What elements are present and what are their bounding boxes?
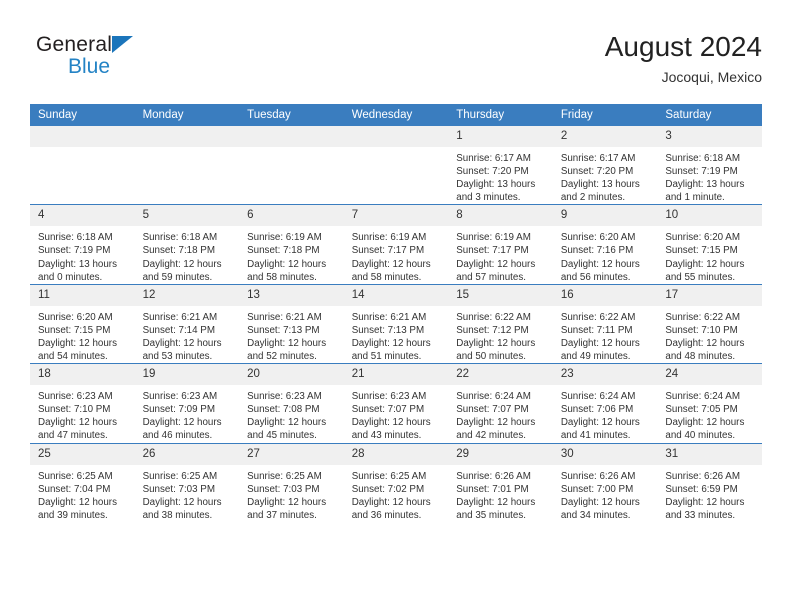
sunset-text: Sunset: 7:15 PM [38, 324, 129, 337]
day-number: 5 [135, 205, 240, 226]
day-number: 6 [239, 205, 344, 226]
day-details: Sunrise: 6:20 AMSunset: 7:15 PMDaylight:… [30, 306, 135, 363]
day-details: Sunrise: 6:25 AMSunset: 7:04 PMDaylight:… [30, 465, 135, 522]
sunset-text: Sunset: 7:08 PM [247, 403, 338, 416]
day-number: 24 [657, 364, 762, 385]
daylight-text: Daylight: 13 hours [665, 178, 756, 191]
daylight-text: Daylight: 13 hours [456, 178, 547, 191]
daylight-text: and 35 minutes. [456, 509, 547, 522]
day-details: Sunrise: 6:19 AMSunset: 7:17 PMDaylight:… [448, 226, 553, 283]
calendar-day-cell[interactable]: 6Sunrise: 6:19 AMSunset: 7:18 PMDaylight… [239, 205, 344, 284]
calendar-day-cell[interactable]: 26Sunrise: 6:25 AMSunset: 7:03 PMDayligh… [135, 443, 240, 522]
day-details: Sunrise: 6:23 AMSunset: 7:10 PMDaylight:… [30, 385, 135, 442]
daylight-text: Daylight: 12 hours [665, 258, 756, 271]
day-details: Sunrise: 6:21 AMSunset: 7:14 PMDaylight:… [135, 306, 240, 363]
calendar-day-cell[interactable]: 9Sunrise: 6:20 AMSunset: 7:16 PMDaylight… [553, 205, 658, 284]
sunrise-text: Sunrise: 6:22 AM [665, 311, 756, 324]
calendar-day-cell[interactable]: 23Sunrise: 6:24 AMSunset: 7:06 PMDayligh… [553, 364, 658, 443]
sunset-text: Sunset: 7:20 PM [456, 165, 547, 178]
logo-text-blue: Blue [36, 56, 216, 78]
daylight-text: and 0 minutes. [38, 271, 129, 284]
daylight-text: and 38 minutes. [143, 509, 234, 522]
sunset-text: Sunset: 7:00 PM [561, 483, 652, 496]
page-title: August 2024 [605, 30, 762, 64]
daylight-text: and 51 minutes. [352, 350, 443, 363]
logo-row-top: General [36, 34, 216, 57]
day-number: 29 [448, 444, 553, 465]
day-details: Sunrise: 6:24 AMSunset: 7:05 PMDaylight:… [657, 385, 762, 442]
daylight-text: Daylight: 12 hours [456, 337, 547, 350]
sunset-text: Sunset: 7:01 PM [456, 483, 547, 496]
calendar-cell-empty [239, 126, 344, 205]
sunset-text: Sunset: 7:05 PM [665, 403, 756, 416]
day-details: Sunrise: 6:21 AMSunset: 7:13 PMDaylight:… [344, 306, 449, 363]
sunrise-text: Sunrise: 6:23 AM [352, 390, 443, 403]
sunrise-text: Sunrise: 6:18 AM [665, 152, 756, 165]
daylight-text: Daylight: 12 hours [665, 416, 756, 429]
daylight-text: and 56 minutes. [561, 271, 652, 284]
daylight-text: Daylight: 12 hours [143, 337, 234, 350]
sunrise-text: Sunrise: 6:19 AM [352, 231, 443, 244]
calendar-day-cell[interactable]: 2Sunrise: 6:17 AMSunset: 7:20 PMDaylight… [553, 126, 658, 205]
day-details: Sunrise: 6:24 AMSunset: 7:06 PMDaylight:… [553, 385, 658, 442]
day-details: Sunrise: 6:19 AMSunset: 7:17 PMDaylight:… [344, 226, 449, 283]
calendar-day-cell[interactable]: 5Sunrise: 6:18 AMSunset: 7:18 PMDaylight… [135, 205, 240, 284]
sunset-text: Sunset: 7:03 PM [143, 483, 234, 496]
calendar-day-cell[interactable]: 11Sunrise: 6:20 AMSunset: 7:15 PMDayligh… [30, 284, 135, 363]
calendar-day-cell[interactable]: 8Sunrise: 6:19 AMSunset: 7:17 PMDaylight… [448, 205, 553, 284]
daylight-text: and 48 minutes. [665, 350, 756, 363]
day-details: Sunrise: 6:23 AMSunset: 7:07 PMDaylight:… [344, 385, 449, 442]
day-number: 9 [553, 205, 658, 226]
general-blue-logo[interactable]: General Blue [36, 34, 216, 90]
daylight-text: and 34 minutes. [561, 509, 652, 522]
daylight-text: and 58 minutes. [247, 271, 338, 284]
calendar-week-row: 1Sunrise: 6:17 AMSunset: 7:20 PMDaylight… [30, 126, 762, 205]
daylight-text: and 52 minutes. [247, 350, 338, 363]
day-number: 14 [344, 285, 449, 306]
sunset-text: Sunset: 7:10 PM [665, 324, 756, 337]
sunset-text: Sunset: 7:10 PM [38, 403, 129, 416]
page-subtitle: Jocoqui, Mexico [605, 67, 762, 87]
day-number [135, 126, 240, 147]
day-number: 1 [448, 126, 553, 147]
sunrise-text: Sunrise: 6:26 AM [561, 470, 652, 483]
daylight-text: and 47 minutes. [38, 429, 129, 442]
day-number: 3 [657, 126, 762, 147]
logo-text-general: General [36, 34, 112, 56]
calendar-day-cell[interactable]: 31Sunrise: 6:26 AMSunset: 6:59 PMDayligh… [657, 443, 762, 522]
sunrise-text: Sunrise: 6:19 AM [247, 231, 338, 244]
day-details: Sunrise: 6:25 AMSunset: 7:03 PMDaylight:… [135, 465, 240, 522]
day-details: Sunrise: 6:23 AMSunset: 7:08 PMDaylight:… [239, 385, 344, 442]
day-number: 28 [344, 444, 449, 465]
daylight-text: and 37 minutes. [247, 509, 338, 522]
day-details: Sunrise: 6:26 AMSunset: 7:00 PMDaylight:… [553, 465, 658, 522]
triangle-icon [112, 36, 133, 53]
sunset-text: Sunset: 7:15 PM [665, 244, 756, 257]
sunset-text: Sunset: 7:04 PM [38, 483, 129, 496]
day-number [344, 126, 449, 147]
sunrise-text: Sunrise: 6:25 AM [247, 470, 338, 483]
calendar-day-cell[interactable]: 18Sunrise: 6:23 AMSunset: 7:10 PMDayligh… [30, 364, 135, 443]
sunset-text: Sunset: 7:18 PM [143, 244, 234, 257]
daylight-text: Daylight: 12 hours [38, 416, 129, 429]
daylight-text: Daylight: 12 hours [247, 258, 338, 271]
calendar-day-cell[interactable]: 3Sunrise: 6:18 AMSunset: 7:19 PMDaylight… [657, 126, 762, 205]
daylight-text: and 59 minutes. [143, 271, 234, 284]
day-details: Sunrise: 6:17 AMSunset: 7:20 PMDaylight:… [553, 147, 658, 204]
sunrise-text: Sunrise: 6:21 AM [352, 311, 443, 324]
weekday-header-wednesday: Wednesday [344, 104, 449, 126]
day-details: Sunrise: 6:25 AMSunset: 7:02 PMDaylight:… [344, 465, 449, 522]
daylight-text: Daylight: 12 hours [665, 337, 756, 350]
sunset-text: Sunset: 7:07 PM [456, 403, 547, 416]
daylight-text: and 33 minutes. [665, 509, 756, 522]
sunrise-text: Sunrise: 6:21 AM [143, 311, 234, 324]
daylight-text: Daylight: 12 hours [561, 337, 652, 350]
day-details: Sunrise: 6:18 AMSunset: 7:19 PMDaylight:… [30, 226, 135, 283]
day-number: 26 [135, 444, 240, 465]
day-details: Sunrise: 6:25 AMSunset: 7:03 PMDaylight:… [239, 465, 344, 522]
day-number: 17 [657, 285, 762, 306]
daylight-text: Daylight: 12 hours [456, 416, 547, 429]
calendar-day-cell[interactable]: 10Sunrise: 6:20 AMSunset: 7:15 PMDayligh… [657, 205, 762, 284]
sunset-text: Sunset: 7:07 PM [352, 403, 443, 416]
calendar-day-cell[interactable]: 25Sunrise: 6:25 AMSunset: 7:04 PMDayligh… [30, 443, 135, 522]
calendar-week-row: 11Sunrise: 6:20 AMSunset: 7:15 PMDayligh… [30, 284, 762, 363]
calendar-day-cell[interactable]: 22Sunrise: 6:24 AMSunset: 7:07 PMDayligh… [448, 364, 553, 443]
day-number: 10 [657, 205, 762, 226]
sunset-text: Sunset: 7:02 PM [352, 483, 443, 496]
calendar-day-cell[interactable]: 1Sunrise: 6:17 AMSunset: 7:20 PMDaylight… [448, 126, 553, 205]
sunrise-text: Sunrise: 6:24 AM [561, 390, 652, 403]
calendar-cell-empty [135, 126, 240, 205]
day-number: 15 [448, 285, 553, 306]
daylight-text: Daylight: 12 hours [456, 496, 547, 509]
day-details: Sunrise: 6:22 AMSunset: 7:11 PMDaylight:… [553, 306, 658, 363]
sunset-text: Sunset: 7:13 PM [247, 324, 338, 337]
daylight-text: and 43 minutes. [352, 429, 443, 442]
day-details: Sunrise: 6:21 AMSunset: 7:13 PMDaylight:… [239, 306, 344, 363]
daylight-text: and 57 minutes. [456, 271, 547, 284]
day-number: 18 [30, 364, 135, 385]
calendar-week-row: 25Sunrise: 6:25 AMSunset: 7:04 PMDayligh… [30, 443, 762, 522]
daylight-text: and 53 minutes. [143, 350, 234, 363]
sunrise-text: Sunrise: 6:17 AM [561, 152, 652, 165]
day-details: Sunrise: 6:19 AMSunset: 7:18 PMDaylight:… [239, 226, 344, 283]
day-number: 19 [135, 364, 240, 385]
calendar-week-row: 4Sunrise: 6:18 AMSunset: 7:19 PMDaylight… [30, 205, 762, 284]
daylight-text: Daylight: 12 hours [143, 496, 234, 509]
weekday-header-tuesday: Tuesday [239, 104, 344, 126]
day-details: Sunrise: 6:18 AMSunset: 7:19 PMDaylight:… [657, 147, 762, 204]
calendar-header-row: Sunday Monday Tuesday Wednesday Thursday… [30, 104, 762, 126]
weekday-header-monday: Monday [135, 104, 240, 126]
sunset-text: Sunset: 7:14 PM [143, 324, 234, 337]
title-block: August 2024 Jocoqui, Mexico [605, 30, 762, 87]
daylight-text: Daylight: 12 hours [456, 258, 547, 271]
sunset-text: Sunset: 7:03 PM [247, 483, 338, 496]
daylight-text: Daylight: 12 hours [247, 337, 338, 350]
sunrise-text: Sunrise: 6:26 AM [456, 470, 547, 483]
day-number: 8 [448, 205, 553, 226]
daylight-text: Daylight: 13 hours [561, 178, 652, 191]
calendar-day-cell[interactable]: 28Sunrise: 6:25 AMSunset: 7:02 PMDayligh… [344, 443, 449, 522]
daylight-text: Daylight: 12 hours [352, 496, 443, 509]
calendar-day-cell[interactable]: 30Sunrise: 6:26 AMSunset: 7:00 PMDayligh… [553, 443, 658, 522]
calendar-day-cell[interactable]: 21Sunrise: 6:23 AMSunset: 7:07 PMDayligh… [344, 364, 449, 443]
sunrise-text: Sunrise: 6:25 AM [352, 470, 443, 483]
daylight-text: Daylight: 12 hours [352, 416, 443, 429]
sunset-text: Sunset: 7:19 PM [665, 165, 756, 178]
day-details: Sunrise: 6:22 AMSunset: 7:10 PMDaylight:… [657, 306, 762, 363]
day-number: 20 [239, 364, 344, 385]
daylight-text: and 1 minute. [665, 191, 756, 204]
sunrise-text: Sunrise: 6:22 AM [561, 311, 652, 324]
day-details: Sunrise: 6:20 AMSunset: 7:15 PMDaylight:… [657, 226, 762, 283]
sunset-text: Sunset: 7:20 PM [561, 165, 652, 178]
daylight-text: Daylight: 12 hours [247, 416, 338, 429]
daylight-text: and 49 minutes. [561, 350, 652, 363]
sunset-text: Sunset: 7:18 PM [247, 244, 338, 257]
sunrise-text: Sunrise: 6:24 AM [665, 390, 756, 403]
sunrise-text: Sunrise: 6:23 AM [247, 390, 338, 403]
day-number: 22 [448, 364, 553, 385]
sunset-text: Sunset: 7:19 PM [38, 244, 129, 257]
calendar-day-cell[interactable]: 4Sunrise: 6:18 AMSunset: 7:19 PMDaylight… [30, 205, 135, 284]
calendar-day-cell[interactable]: 27Sunrise: 6:25 AMSunset: 7:03 PMDayligh… [239, 443, 344, 522]
day-number: 30 [553, 444, 658, 465]
calendar-page: General Blue August 2024 Jocoqui, Mexico… [0, 0, 792, 612]
day-number: 7 [344, 205, 449, 226]
daylight-text: Daylight: 12 hours [247, 496, 338, 509]
day-number: 23 [553, 364, 658, 385]
daylight-text: Daylight: 12 hours [143, 416, 234, 429]
day-number: 21 [344, 364, 449, 385]
day-number: 25 [30, 444, 135, 465]
sunset-text: Sunset: 7:11 PM [561, 324, 652, 337]
day-details: Sunrise: 6:18 AMSunset: 7:18 PMDaylight:… [135, 226, 240, 283]
day-number: 31 [657, 444, 762, 465]
day-number [30, 126, 135, 147]
day-details: Sunrise: 6:26 AMSunset: 7:01 PMDaylight:… [448, 465, 553, 522]
daylight-text: Daylight: 12 hours [561, 258, 652, 271]
daylight-text: Daylight: 12 hours [561, 496, 652, 509]
sunrise-text: Sunrise: 6:19 AM [456, 231, 547, 244]
daylight-text: Daylight: 12 hours [352, 258, 443, 271]
daylight-text: and 42 minutes. [456, 429, 547, 442]
sunset-text: Sunset: 7:17 PM [352, 244, 443, 257]
daylight-text: Daylight: 12 hours [38, 496, 129, 509]
sunrise-text: Sunrise: 6:20 AM [561, 231, 652, 244]
daylight-text: and 55 minutes. [665, 271, 756, 284]
sunrise-text: Sunrise: 6:23 AM [38, 390, 129, 403]
calendar-day-cell[interactable]: 14Sunrise: 6:21 AMSunset: 7:13 PMDayligh… [344, 284, 449, 363]
day-number: 27 [239, 444, 344, 465]
day-number: 16 [553, 285, 658, 306]
sunrise-text: Sunrise: 6:23 AM [143, 390, 234, 403]
sunrise-text: Sunrise: 6:22 AM [456, 311, 547, 324]
day-details: Sunrise: 6:17 AMSunset: 7:20 PMDaylight:… [448, 147, 553, 204]
sunrise-text: Sunrise: 6:17 AM [456, 152, 547, 165]
daylight-text: and 39 minutes. [38, 509, 129, 522]
calendar-cell-empty [30, 126, 135, 205]
sunset-text: Sunset: 7:17 PM [456, 244, 547, 257]
sunrise-text: Sunrise: 6:21 AM [247, 311, 338, 324]
daylight-text: Daylight: 12 hours [143, 258, 234, 271]
weekday-header-sunday: Sunday [30, 104, 135, 126]
calendar-day-cell[interactable]: 19Sunrise: 6:23 AMSunset: 7:09 PMDayligh… [135, 364, 240, 443]
sunset-text: Sunset: 7:13 PM [352, 324, 443, 337]
calendar-day-cell[interactable]: 16Sunrise: 6:22 AMSunset: 7:11 PMDayligh… [553, 284, 658, 363]
weekday-header-saturday: Saturday [657, 104, 762, 126]
daylight-text: and 3 minutes. [456, 191, 547, 204]
calendar-day-cell[interactable]: 15Sunrise: 6:22 AMSunset: 7:12 PMDayligh… [448, 284, 553, 363]
day-number: 4 [30, 205, 135, 226]
calendar-cell-empty [344, 126, 449, 205]
day-details: Sunrise: 6:26 AMSunset: 6:59 PMDaylight:… [657, 465, 762, 522]
sunrise-text: Sunrise: 6:26 AM [665, 470, 756, 483]
daylight-text: Daylight: 12 hours [352, 337, 443, 350]
day-details: Sunrise: 6:20 AMSunset: 7:16 PMDaylight:… [553, 226, 658, 283]
sunrise-text: Sunrise: 6:18 AM [143, 231, 234, 244]
weekday-header-thursday: Thursday [448, 104, 553, 126]
sunset-text: Sunset: 7:12 PM [456, 324, 547, 337]
sunset-text: Sunset: 7:09 PM [143, 403, 234, 416]
sunset-text: Sunset: 6:59 PM [665, 483, 756, 496]
calendar-day-cell[interactable]: 13Sunrise: 6:21 AMSunset: 7:13 PMDayligh… [239, 284, 344, 363]
calendar-day-cell[interactable]: 24Sunrise: 6:24 AMSunset: 7:05 PMDayligh… [657, 364, 762, 443]
daylight-text: Daylight: 13 hours [38, 258, 129, 271]
calendar-day-cell[interactable]: 17Sunrise: 6:22 AMSunset: 7:10 PMDayligh… [657, 284, 762, 363]
daylight-text: Daylight: 12 hours [38, 337, 129, 350]
daylight-text: and 58 minutes. [352, 271, 443, 284]
daylight-text: and 54 minutes. [38, 350, 129, 363]
daylight-text: and 41 minutes. [561, 429, 652, 442]
sunset-text: Sunset: 7:06 PM [561, 403, 652, 416]
sunset-text: Sunset: 7:16 PM [561, 244, 652, 257]
calendar-week-row: 18Sunrise: 6:23 AMSunset: 7:10 PMDayligh… [30, 364, 762, 443]
calendar-day-cell[interactable]: 29Sunrise: 6:26 AMSunset: 7:01 PMDayligh… [448, 443, 553, 522]
sunrise-text: Sunrise: 6:25 AM [143, 470, 234, 483]
sunrise-text: Sunrise: 6:18 AM [38, 231, 129, 244]
daylight-text: Daylight: 12 hours [561, 416, 652, 429]
day-number [239, 126, 344, 147]
day-details: Sunrise: 6:24 AMSunset: 7:07 PMDaylight:… [448, 385, 553, 442]
calendar-day-cell[interactable]: 12Sunrise: 6:21 AMSunset: 7:14 PMDayligh… [135, 284, 240, 363]
calendar-day-cell[interactable]: 20Sunrise: 6:23 AMSunset: 7:08 PMDayligh… [239, 364, 344, 443]
day-details: Sunrise: 6:22 AMSunset: 7:12 PMDaylight:… [448, 306, 553, 363]
calendar-table: Sunday Monday Tuesday Wednesday Thursday… [30, 104, 762, 522]
day-number: 2 [553, 126, 658, 147]
day-number: 12 [135, 285, 240, 306]
daylight-text: and 40 minutes. [665, 429, 756, 442]
day-number: 13 [239, 285, 344, 306]
sunrise-text: Sunrise: 6:24 AM [456, 390, 547, 403]
sunrise-text: Sunrise: 6:20 AM [665, 231, 756, 244]
weekday-header-friday: Friday [553, 104, 658, 126]
sunrise-text: Sunrise: 6:25 AM [38, 470, 129, 483]
calendar-day-cell[interactable]: 7Sunrise: 6:19 AMSunset: 7:17 PMDaylight… [344, 205, 449, 284]
day-details: Sunrise: 6:23 AMSunset: 7:09 PMDaylight:… [135, 385, 240, 442]
daylight-text: and 36 minutes. [352, 509, 443, 522]
page-header: General Blue August 2024 Jocoqui, Mexico [30, 30, 762, 92]
daylight-text: and 2 minutes. [561, 191, 652, 204]
daylight-text: and 50 minutes. [456, 350, 547, 363]
sunrise-text: Sunrise: 6:20 AM [38, 311, 129, 324]
daylight-text: and 46 minutes. [143, 429, 234, 442]
daylight-text: and 45 minutes. [247, 429, 338, 442]
day-number: 11 [30, 285, 135, 306]
calendar-body: 1Sunrise: 6:17 AMSunset: 7:20 PMDaylight… [30, 126, 762, 522]
daylight-text: Daylight: 12 hours [665, 496, 756, 509]
